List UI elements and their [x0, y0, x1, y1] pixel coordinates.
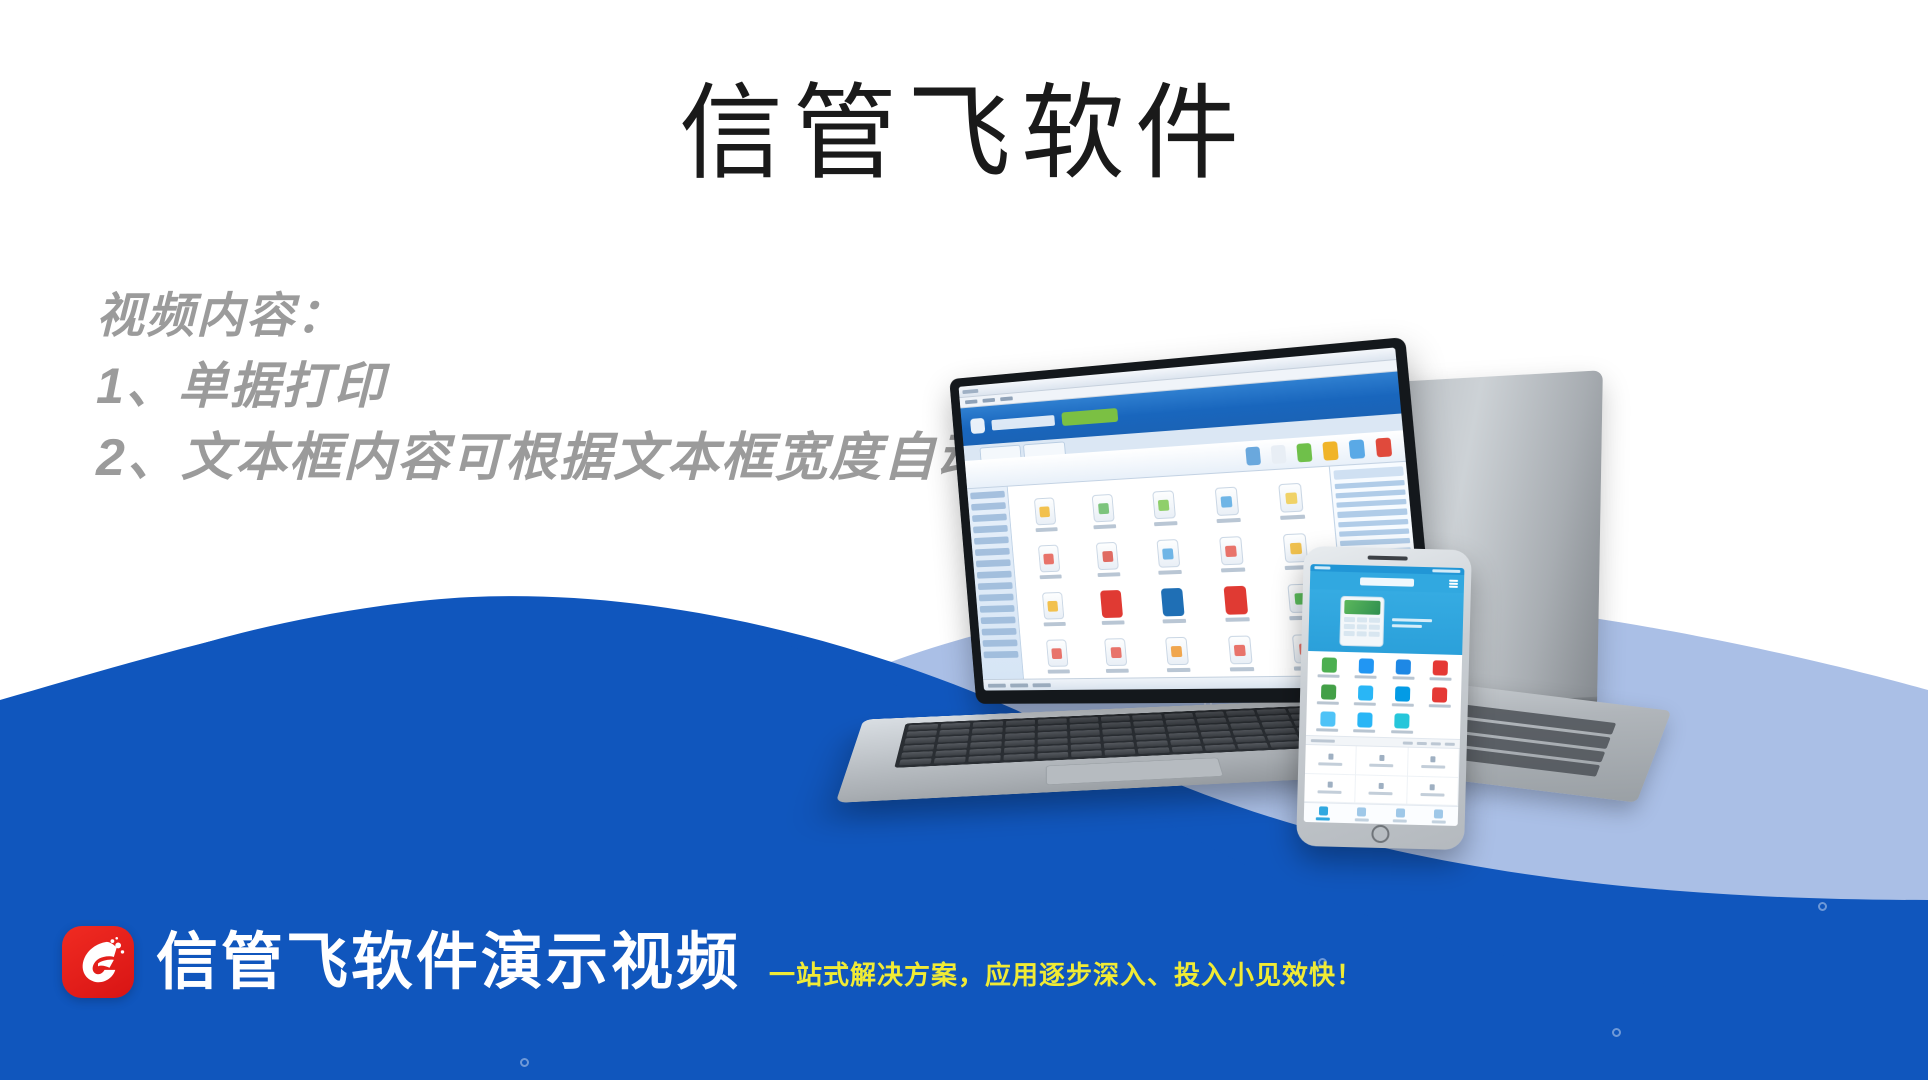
phone-module-icon[interactable]: [1423, 687, 1458, 708]
phone-hero-device-icon: [1339, 596, 1384, 647]
decorative-dot: [520, 1058, 529, 1067]
toolbar-icon: [1245, 446, 1261, 465]
app-module-icon: [1205, 585, 1266, 622]
app-module-icon: [1197, 486, 1258, 524]
phone-module-icon[interactable]: [1386, 659, 1421, 680]
app-module-icon: [1201, 535, 1262, 573]
banner-tagline: 一站式解决方案，应用逐步深入、投入小见效快！: [769, 955, 1363, 992]
phone-module-icon[interactable]: [1348, 685, 1383, 706]
app-module-icon: [1018, 496, 1073, 532]
phone-hero-banner: [1308, 589, 1464, 655]
phone-tab-home[interactable]: [1304, 803, 1343, 823]
phone-stat-cell: [1356, 746, 1408, 776]
phone-stat-cell: [1407, 776, 1459, 806]
decorative-dot: [1818, 902, 1827, 911]
phone-home-button[interactable]: [1371, 825, 1389, 843]
app-logo-icon: [970, 418, 985, 434]
phone-stat-cell: [1356, 775, 1408, 805]
phone-screen: [1304, 564, 1465, 826]
phone-module-icon[interactable]: [1311, 684, 1346, 705]
phone-tabbar: [1304, 802, 1458, 826]
toolbar-icon: [1296, 442, 1312, 461]
app-module-icon: [1144, 587, 1203, 623]
app-module-icon: [1076, 493, 1133, 530]
phone-module-icon[interactable]: [1349, 658, 1384, 679]
page-title: 信管飞软件: [0, 72, 1928, 195]
app-module-icon: [1260, 482, 1323, 521]
phone-module-icon[interactable]: [1423, 660, 1458, 681]
app-icon-grid: [1008, 467, 1348, 679]
bottom-brand-banner: 信管飞软件演示视频 一站式解决方案，应用逐步深入、投入小见效快！: [62, 926, 1363, 998]
phone-module-grid: [1306, 651, 1462, 739]
device-showcase: [880, 370, 1710, 930]
phone-tab-orders[interactable]: [1342, 804, 1381, 824]
app-module-icon: [1084, 589, 1141, 625]
toolbar-icon: [1375, 437, 1392, 457]
phone-stats-grid: [1304, 745, 1459, 806]
phone-module-icon[interactable]: [1385, 686, 1420, 707]
phone-module-icon[interactable]: [1347, 712, 1382, 733]
phone-tab-reports[interactable]: [1381, 805, 1420, 825]
app-module-icon: [1030, 639, 1086, 674]
app-module-icon: [1088, 638, 1145, 673]
banner-brand-title: 信管飞软件演示视频: [156, 931, 741, 993]
xinguanfei-bird-logo-icon: [62, 926, 134, 998]
app-module-icon: [1148, 636, 1207, 672]
phone-module-icon[interactable]: [1312, 657, 1347, 678]
app-badge: [1061, 408, 1118, 426]
content-lead-label: 视频内容：: [96, 283, 1099, 351]
smartphone-icon: [1296, 546, 1472, 850]
app-module-icon: [1139, 538, 1198, 575]
app-module-icon: [1135, 489, 1194, 527]
app-module-icon: [1022, 544, 1077, 580]
phone-stat-cell: [1305, 745, 1357, 775]
app-brand-text: [991, 415, 1055, 430]
toolbar-icon: [1349, 439, 1366, 459]
laptop-trackpad: [1046, 757, 1224, 785]
decorative-dot: [1612, 1028, 1621, 1037]
phone-module-icon[interactable]: [1385, 713, 1420, 734]
phone-stat-cell: [1408, 748, 1460, 778]
hamburger-menu-icon[interactable]: [1449, 580, 1458, 588]
app-module-icon: [1210, 635, 1271, 671]
toolbar-icon: [1271, 444, 1287, 463]
phone-module-icon[interactable]: [1310, 711, 1345, 732]
phone-stat-cell: [1304, 773, 1356, 803]
phone-tab-profile[interactable]: [1419, 806, 1458, 826]
app-module-icon: [1080, 541, 1137, 578]
toolbar-icon: [1322, 441, 1338, 461]
app-module-icon: [1026, 591, 1081, 626]
presentation-slide: 信管飞软件 视频内容： 1、单据打印 2、文本框内容可根据文本框宽度自动缩放: [0, 0, 1928, 1080]
